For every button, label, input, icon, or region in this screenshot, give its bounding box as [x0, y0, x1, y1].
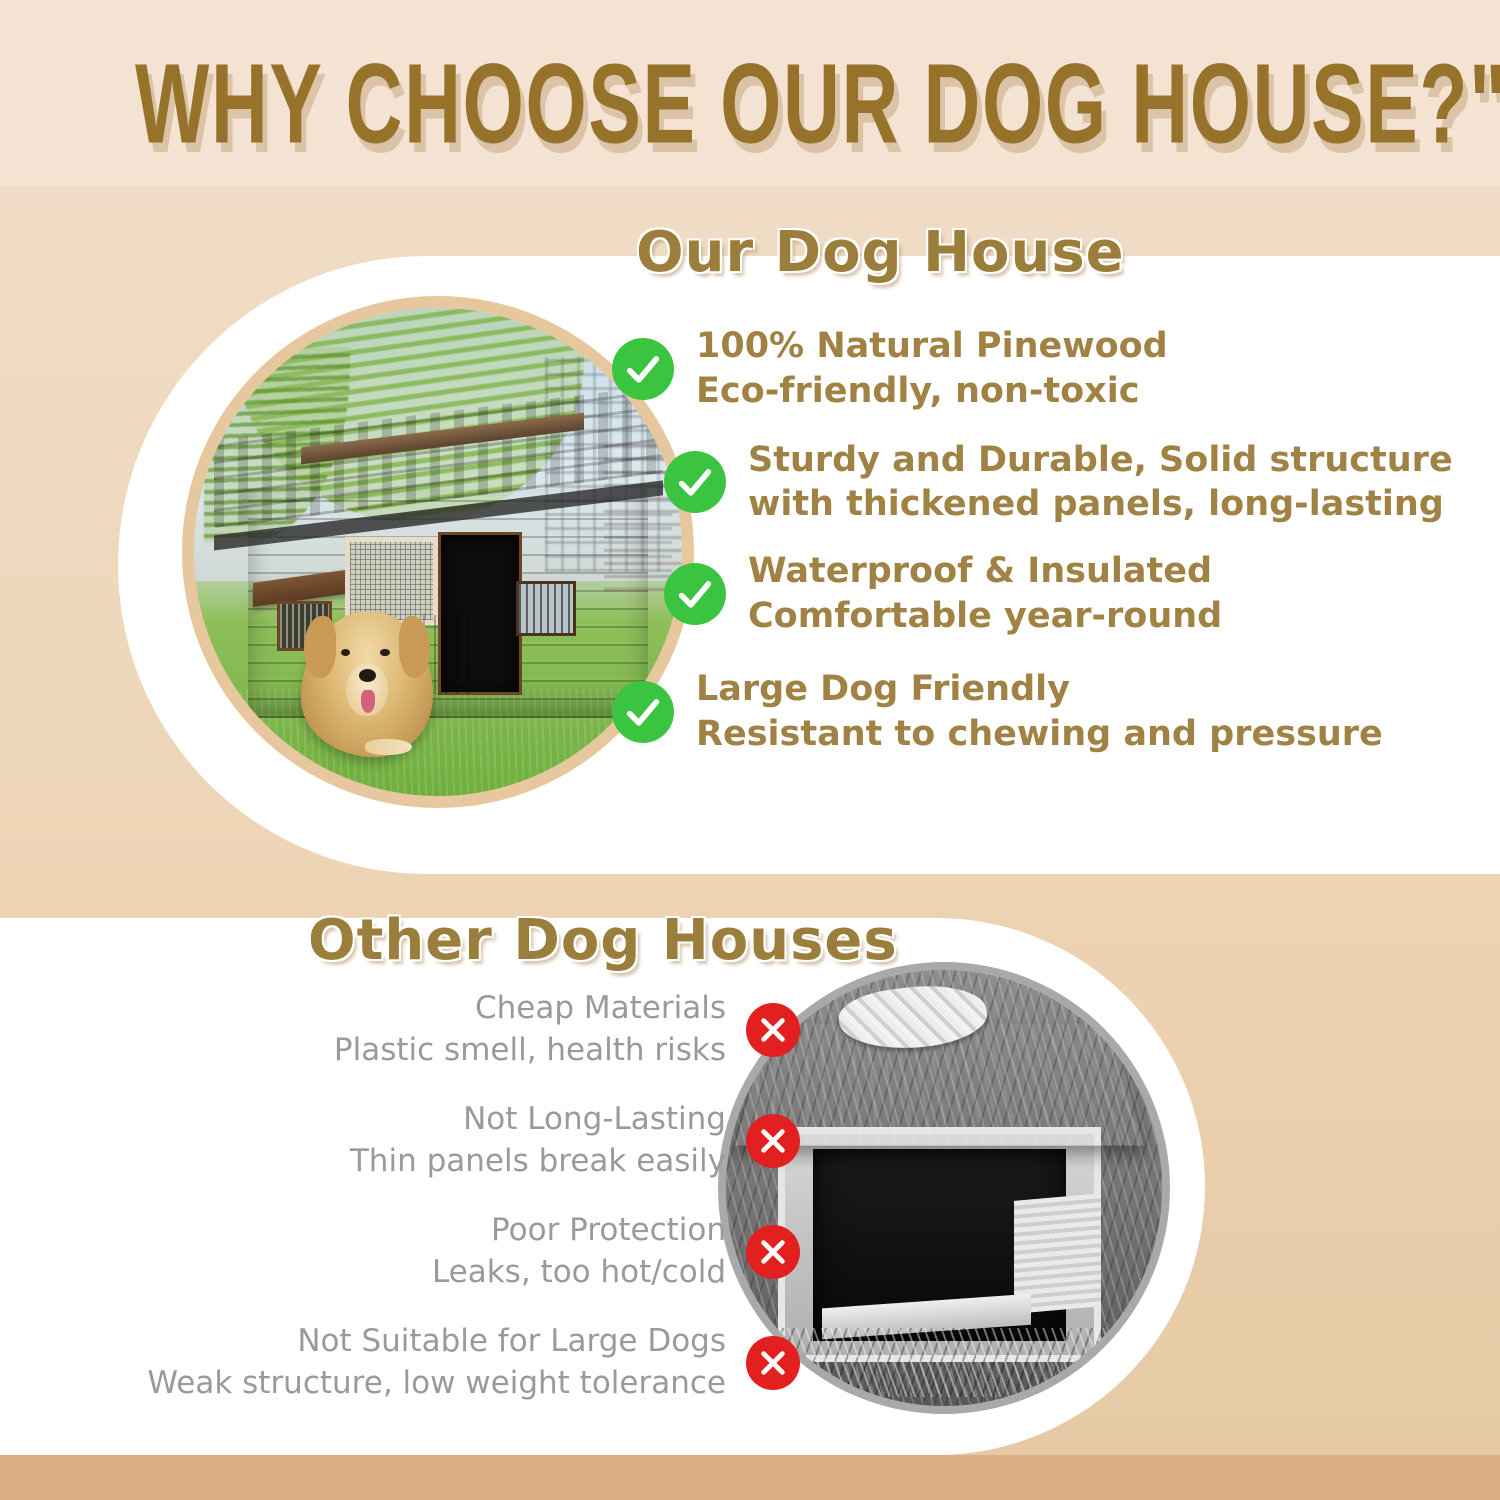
drawback-line-1: Cheap Materials: [475, 990, 726, 1026]
x-circle-icon: [746, 1225, 800, 1279]
drawback-line-1: Not Suitable for Large Dogs: [297, 1323, 726, 1359]
feature-line-2: Resistant to chewing and pressure: [696, 714, 1383, 754]
feature-list: 100% Natural Pinewood Eco-friendly, non-…: [612, 324, 1452, 778]
check-circle-icon: [612, 338, 674, 400]
check-circle-icon: [664, 563, 726, 625]
feature-text: 100% Natural Pinewood Eco-friendly, non-…: [696, 324, 1168, 414]
drawback-line-2: Thin panels break easily: [350, 1143, 726, 1179]
page-title: WHY CHOOSE OUR DOG HOUSE?": [135, 48, 1365, 161]
drawback-line-2: Plastic smell, health risks: [334, 1032, 726, 1068]
feature-line-1: Waterproof & Insulated: [748, 551, 1212, 591]
feature-line-2: with thickened panels, long-lasting: [748, 484, 1444, 524]
feature-line-1: 100% Natural Pinewood: [696, 326, 1168, 366]
drawback-text: Poor Protection Leaks, too hot/cold: [432, 1210, 726, 1293]
feature-text: Sturdy and Durable, Solid structure with…: [748, 438, 1453, 528]
drawback-text: Not Long-Lasting Thin panels break easil…: [350, 1099, 726, 1182]
our-dog-house-heading: Our Dog House: [636, 220, 1125, 285]
feature-item: Waterproof & Insulated Comfortable year-…: [664, 549, 1452, 639]
drawback-line-1: Not Long-Lasting: [463, 1101, 726, 1137]
our-dog-house-photo: [194, 308, 682, 796]
feature-line-2: Comfortable year-round: [748, 596, 1222, 636]
drawback-item: Not Long-Lasting Thin panels break easil…: [120, 1099, 800, 1182]
x-circle-icon: [746, 1114, 800, 1168]
check-circle-icon: [612, 681, 674, 743]
feature-item: Sturdy and Durable, Solid structure with…: [664, 438, 1452, 528]
drawback-line-1: Poor Protection: [491, 1212, 726, 1248]
infographic-page: WHY CHOOSE OUR DOG HOUSE?" Our Dog House: [0, 0, 1500, 1500]
background-band-bottom: [0, 1455, 1500, 1500]
feature-line-1: Sturdy and Durable, Solid structure: [748, 440, 1453, 480]
feature-text: Large Dog Friendly Resistant to chewing …: [696, 667, 1383, 757]
drawback-text: Not Suitable for Large Dogs Weak structu…: [147, 1321, 726, 1404]
feature-text: Waterproof & Insulated Comfortable year-…: [748, 549, 1222, 639]
drawback-item: Poor Protection Leaks, too hot/cold: [120, 1210, 800, 1293]
drawback-line-2: Leaks, too hot/cold: [432, 1254, 726, 1290]
feature-line-1: Large Dog Friendly: [696, 669, 1070, 709]
other-dog-houses-heading: Other Dog Houses: [308, 908, 898, 973]
check-circle-icon: [664, 451, 726, 513]
drawback-line-2: Weak structure, low weight tolerance: [147, 1365, 726, 1401]
x-circle-icon: [746, 1336, 800, 1390]
drawback-text: Cheap Materials Plastic smell, health ri…: [334, 988, 726, 1071]
drawback-item: Not Suitable for Large Dogs Weak structu…: [120, 1321, 800, 1404]
drawback-item: Cheap Materials Plastic smell, health ri…: [120, 988, 800, 1071]
drawback-list: Cheap Materials Plastic smell, health ri…: [120, 988, 800, 1432]
feature-item: 100% Natural Pinewood Eco-friendly, non-…: [612, 324, 1452, 414]
x-circle-icon: [746, 1003, 800, 1057]
feature-item: Large Dog Friendly Resistant to chewing …: [612, 667, 1452, 757]
feature-line-2: Eco-friendly, non-toxic: [696, 371, 1140, 411]
